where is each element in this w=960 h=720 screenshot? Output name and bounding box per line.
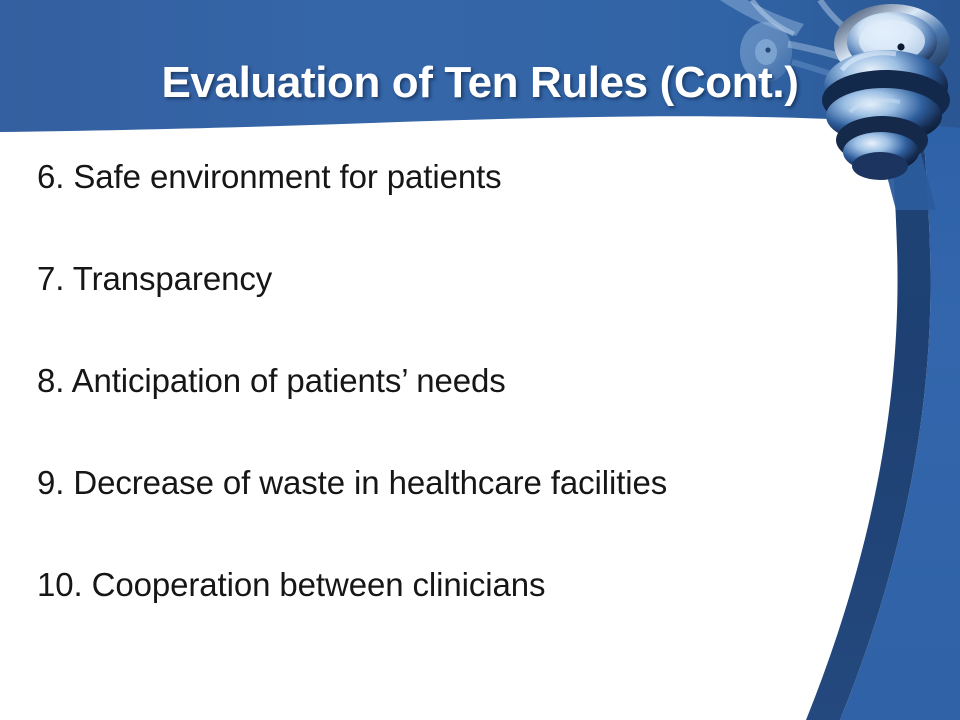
list-item: 7. Transparency	[37, 262, 857, 364]
right-arc-outer-shape	[840, 0, 960, 720]
page-title: Evaluation of Ten Rules (Cont.)	[0, 58, 960, 108]
list-item: 10. Cooperation between clinicians	[37, 568, 857, 670]
stethoscope-stem	[872, 120, 936, 210]
list-item: 9. Decrease of waste in healthcare facil…	[37, 466, 857, 568]
list-item: 8. Anticipation of patients’ needs	[37, 364, 857, 466]
slide-canvas: Evaluation of Ten Rules (Cont.) 6. Safe …	[0, 0, 960, 720]
list-item: 6. Safe environment for patients	[37, 160, 857, 262]
rules-list: 6. Safe environment for patients 7. Tran…	[37, 160, 857, 670]
